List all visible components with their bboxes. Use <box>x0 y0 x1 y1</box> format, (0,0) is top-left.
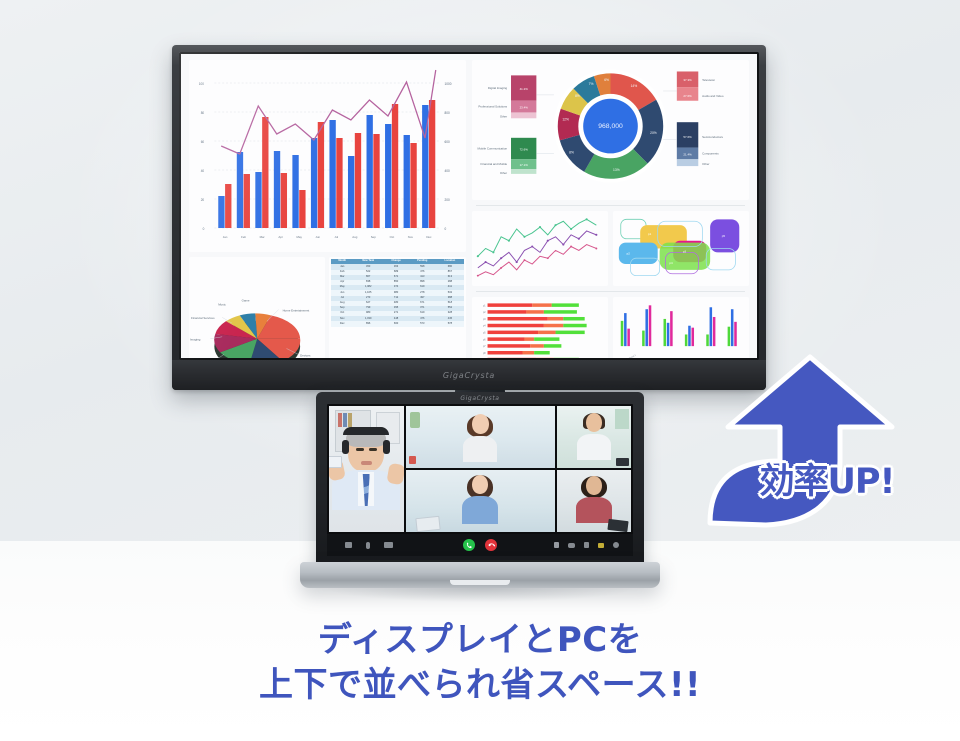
combo-chart: 020 4060 80100 0200 400600 8001000 <box>189 60 466 252</box>
svg-text:p5: p5 <box>722 234 726 238</box>
video-tile-4[interactable] <box>557 470 632 532</box>
share-screen-icon[interactable] <box>554 542 559 548</box>
caption-line-2: 上下で並べられ省スペース!! <box>0 663 960 708</box>
svg-text:p3: p3 <box>683 249 687 253</box>
svg-text:6%: 6% <box>604 78 609 82</box>
svg-text:21.4%: 21.4% <box>683 152 692 156</box>
svg-text:37.3%: 37.3% <box>683 78 692 82</box>
divider-2 <box>476 291 745 292</box>
svg-text:Devices: Devices <box>300 353 311 357</box>
table-row: Dec896660573578 <box>331 321 464 326</box>
svg-text:May: May <box>296 235 302 239</box>
bottom-row: p1p2p3 p4p5p6 p7p8p9 p10p11 <box>472 297 749 358</box>
svg-text:20%: 20% <box>650 131 657 135</box>
svg-text:Digital Imaging: Digital Imaging <box>488 86 508 90</box>
svg-text:p5: p5 <box>483 332 486 334</box>
category-pie-panel: Home Entertainment Devices Mobile Produc… <box>189 257 325 358</box>
monthly-data-table: MonthNew TaskChangePendingLocation Jan45… <box>331 259 464 327</box>
donut-center-value: 968,000 <box>598 123 623 130</box>
svg-text:60: 60 <box>201 140 205 144</box>
svg-text:Jul: Jul <box>334 235 338 239</box>
toolbar-right-controls[interactable] <box>554 542 619 548</box>
toolbar-call-controls[interactable] <box>463 539 497 551</box>
video-tile-3[interactable] <box>406 470 555 532</box>
svg-text:p3: p3 <box>483 319 486 321</box>
arrow-label: 効率UP! <box>722 453 932 504</box>
settings-icon[interactable] <box>613 542 619 548</box>
laptop-lid: GigaCrysta <box>316 392 644 567</box>
svg-text:27.6%: 27.6% <box>683 94 692 98</box>
microphone-icon[interactable] <box>345 542 352 548</box>
laptop-screen <box>327 404 633 556</box>
svg-text:Professional Solutions: Professional Solutions <box>478 105 507 109</box>
svg-text:14%: 14% <box>631 84 638 88</box>
dashboard-right-column: 968,000 14%20% 13%8% 12%8% 7%6% <box>472 60 749 358</box>
video-call-grid[interactable] <box>327 404 633 534</box>
table-cell: 896 <box>353 321 383 326</box>
laptop-front-notch <box>450 580 510 585</box>
svg-text:p1: p1 <box>483 305 486 307</box>
svg-text:Imaging: Imaging <box>190 338 201 342</box>
svg-text:600: 600 <box>445 140 450 144</box>
table-cell: Dec <box>331 321 353 326</box>
dual-trend-panel <box>472 211 608 286</box>
svg-text:Audio and Video: Audio and Video <box>702 94 724 98</box>
svg-text:80: 80 <box>201 111 205 115</box>
stacked-hbars: p1p2p3 p4p5p6 p7p8p9 p10p11 <box>482 303 587 358</box>
horizontal-bars-chart: p1p2p3 p4p5p6 p7p8p9 p10p11 <box>472 297 608 358</box>
svg-text:Mobile Communication: Mobile Communication <box>478 147 508 151</box>
svg-text:Financial Services: Financial Services <box>191 316 215 320</box>
svg-text:17.1%: 17.1% <box>520 163 529 167</box>
svg-text:Game: Game <box>242 299 250 303</box>
rounded-cards-panel: p1p2 p3p4p5 <box>613 211 749 286</box>
video-icon[interactable] <box>384 542 393 548</box>
svg-text:8%: 8% <box>569 150 574 154</box>
category-pie-chart: Home Entertainment Devices Mobile Produc… <box>189 257 325 358</box>
svg-text:Other: Other <box>702 162 709 166</box>
monitor-chin: GigaCrysta <box>172 360 766 390</box>
revenue-donut-chart: 968,000 14%20% 13%8% 12%8% 7%6% <box>472 60 749 200</box>
bi-dashboard: 020 4060 80100 0200 400600 8001000 <box>181 54 757 358</box>
svg-text:Music: Music <box>218 303 226 307</box>
dashboard-screen: 020 4060 80100 0200 400600 8001000 <box>181 54 757 358</box>
legend-left-top: Digital Imaging Professional Solutions O… <box>478 75 554 118</box>
progress-and-radar-panel: p1p2p3 p4p5p6 p7p8p9 p10p11 <box>472 297 608 358</box>
svg-text:20: 20 <box>201 198 205 202</box>
svg-text:200: 200 <box>445 198 450 202</box>
svg-text:12%: 12% <box>562 117 569 121</box>
svg-text:8%: 8% <box>575 94 580 98</box>
svg-text:13%: 13% <box>613 168 620 172</box>
end-call-icon[interactable] <box>485 539 497 551</box>
answer-call-icon[interactable] <box>463 539 475 551</box>
monitor-brand-logo: GigaCrysta <box>443 371 495 380</box>
svg-text:p8: p8 <box>483 353 486 355</box>
svg-text:40: 40 <box>201 169 205 173</box>
svg-text:Other: Other <box>500 114 507 118</box>
laptop[interactable]: GigaCrysta <box>300 392 660 597</box>
svg-text:Other: Other <box>500 171 507 175</box>
caption-block: ディスプレイとPCを 上下で並べられ省スペース!! <box>0 618 960 708</box>
video-call-toolbar[interactable] <box>327 534 633 556</box>
svg-text:Jan: Jan <box>223 235 228 239</box>
svg-text:Television: Television <box>702 78 715 82</box>
dashboard-left-column: 020 4060 80100 0200 400600 8001000 <box>189 60 466 358</box>
svg-text:400: 400 <box>445 169 450 173</box>
svg-text:Mar: Mar <box>260 235 265 239</box>
svg-text:7%: 7% <box>589 82 594 86</box>
divider <box>476 205 745 206</box>
grouped-bars-chart: Group 1Group 2Group 3 Group 4Group 5Grou… <box>613 297 749 358</box>
monthly-table-panel: MonthNew TaskChangePendingLocation Jan45… <box>329 257 466 358</box>
legend-right-top: Television Audio and Video 37.3% 27.6% <box>663 71 724 100</box>
laptop-brand-logo: GigaCrysta <box>460 395 499 402</box>
scene: 020 4060 80100 0200 400600 8001000 <box>0 0 960 741</box>
svg-text:Apr: Apr <box>278 235 283 239</box>
svg-text:57.6%: 57.6% <box>683 135 692 139</box>
legend-right-bottom: Semiconductors Components Other 57.6% 21… <box>663 122 723 166</box>
svg-text:0: 0 <box>445 227 447 231</box>
svg-text:Aug: Aug <box>352 235 358 239</box>
toolbar-left-controls[interactable] <box>345 542 393 549</box>
phone-glyph <box>466 542 473 549</box>
grouped-bars-and-donuts-panel: Group 1Group 2Group 3 Group 4Group 5Grou… <box>613 297 749 358</box>
svg-text:41.2%: 41.2% <box>520 87 529 91</box>
svg-text:p2: p2 <box>483 312 486 314</box>
svg-text:0: 0 <box>203 227 205 231</box>
middle-row: p1p2 p3p4p5 <box>472 211 749 286</box>
svg-text:23.4%: 23.4% <box>520 106 529 110</box>
svg-text:p7: p7 <box>483 346 486 348</box>
svg-text:72.6%: 72.6% <box>520 147 529 151</box>
svg-text:100: 100 <box>199 82 204 86</box>
chat-icon[interactable] <box>584 542 589 548</box>
svg-text:p4: p4 <box>483 326 486 328</box>
laptop-shadow <box>328 588 632 602</box>
dual-trend-chart <box>472 211 608 286</box>
svg-text:Dec: Dec <box>426 235 432 239</box>
pie-and-table-row: Home Entertainment Devices Mobile Produc… <box>189 257 466 358</box>
svg-text:Group 1: Group 1 <box>628 353 637 358</box>
table-cell: 573 <box>409 321 436 326</box>
svg-text:1000: 1000 <box>445 82 452 86</box>
monitor-panel: 020 4060 80100 0200 400600 8001000 <box>179 52 759 360</box>
svg-text:p1: p1 <box>648 232 652 236</box>
svg-text:Home Entertainment: Home Entertainment <box>283 308 310 312</box>
svg-text:p6: p6 <box>483 339 486 341</box>
combo-chart-panel: 020 4060 80100 0200 400600 8001000 <box>189 60 466 252</box>
participants-icon[interactable] <box>568 543 575 548</box>
svg-text:Jun: Jun <box>315 235 320 239</box>
caption-line-1: ディスプレイとPCを <box>0 618 960 663</box>
table-cell: 660 <box>383 321 408 326</box>
rounded-cards-diagram: p1p2 p3p4p5 <box>613 211 749 286</box>
legend-left-bottom: Mobile Communication Financial and Mobil… <box>478 138 554 175</box>
grouped-bars: Group 1Group 2Group 3 Group 4Group 5Grou… <box>621 305 749 358</box>
camera-icon[interactable] <box>366 542 370 549</box>
efficiency-arrow-callout: 効率UP! <box>700 355 940 530</box>
svg-text:Oct: Oct <box>390 235 395 239</box>
svg-text:p4: p4 <box>669 261 673 265</box>
external-display[interactable]: 020 4060 80100 0200 400600 8001000 <box>172 45 766 390</box>
laptop-top-bezel: GigaCrysta <box>316 392 644 404</box>
table-cell: 578 <box>436 321 464 326</box>
svg-text:Sep: Sep <box>371 235 377 239</box>
svg-text:p2: p2 <box>627 251 631 255</box>
svg-text:Nov: Nov <box>408 235 414 239</box>
video-tile-2[interactable] <box>557 406 632 468</box>
svg-text:Feb: Feb <box>241 235 246 239</box>
svg-text:800: 800 <box>445 111 450 115</box>
video-tile-speaker[interactable] <box>329 406 404 532</box>
phone-down-glyph <box>488 542 495 549</box>
revenue-donut-panel: 968,000 14%20% 13%8% 12%8% 7%6% <box>472 60 749 200</box>
svg-text:Semiconductors: Semiconductors <box>702 135 723 139</box>
svg-text:Components: Components <box>702 151 719 155</box>
video-tile-1[interactable] <box>406 406 555 468</box>
svg-text:Financial and Mobile: Financial and Mobile <box>480 162 507 166</box>
record-icon[interactable] <box>598 543 604 548</box>
